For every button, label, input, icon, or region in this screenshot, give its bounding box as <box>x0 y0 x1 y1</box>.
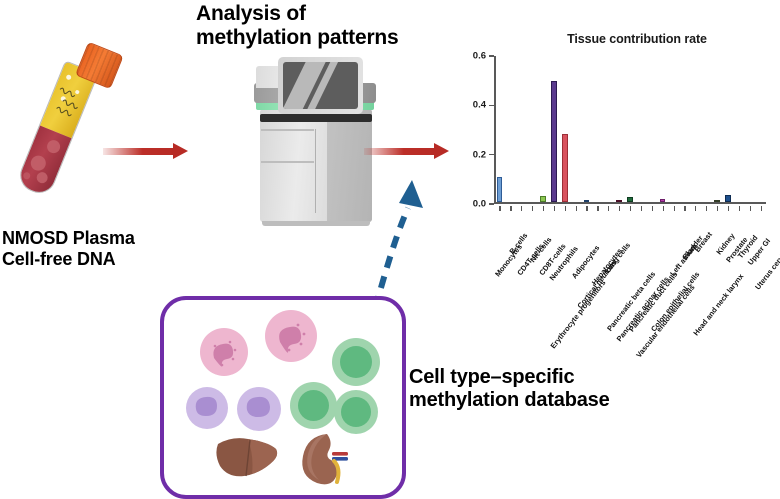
cell-generic-green <box>290 382 337 429</box>
x-axis-tick <box>641 206 642 211</box>
x-axis-tick <box>554 206 555 211</box>
y-axis-tick-label: 0.2 <box>473 149 486 160</box>
x-axis-tick <box>717 206 718 211</box>
y-axis-tick-label: 0.0 <box>473 199 486 210</box>
x-axis-tick <box>630 206 631 211</box>
x-axis-tick <box>674 206 675 211</box>
chart-bar <box>497 177 503 203</box>
chart-bar <box>540 196 546 202</box>
blue-dashed-arrow-up-icon <box>355 172 435 312</box>
x-axis-tick <box>608 206 609 211</box>
tissue-contribution-chart: Tissue contribution rate 0.00.20.40.6Mon… <box>452 28 778 298</box>
chart-plot-area: 0.00.20.40.6MonocytesB-cellsCD4T-cellsNK… <box>494 56 766 204</box>
x-axis-tick <box>706 206 707 211</box>
chart-bar <box>714 200 720 202</box>
cell-lymphocyte-purple <box>186 387 228 429</box>
x-axis-tick <box>532 206 533 211</box>
x-axis-tick <box>663 206 664 211</box>
analysis-title: Analysis of methylation patterns <box>196 2 466 50</box>
y-axis-tick <box>489 203 494 204</box>
tube-blood-layer <box>16 125 71 196</box>
y-axis-tick-label: 0.4 <box>473 100 486 111</box>
x-axis-tick-label: Head and neck larynx <box>692 272 746 337</box>
x-axis-tick <box>510 206 511 211</box>
cell-lymphocyte-purple <box>237 387 281 431</box>
chart-bar <box>725 195 731 202</box>
x-axis-tick <box>521 206 522 211</box>
y-axis-tick <box>489 105 494 106</box>
y-axis <box>494 56 496 204</box>
chart-bar <box>660 199 666 202</box>
x-axis-tick <box>543 206 544 211</box>
cell-granulocyte-pink <box>265 310 317 362</box>
x-axis-tick <box>739 206 740 211</box>
kidney-organ-icon <box>297 430 355 488</box>
cell-generic-green <box>334 390 378 434</box>
x-axis-tick <box>565 206 566 211</box>
y-axis-tick-label: 0.6 <box>473 51 486 62</box>
chart-bar <box>584 200 590 202</box>
red-arrow-right-icon <box>364 146 450 157</box>
tube-body <box>15 60 99 198</box>
figure-canvas: NMOSD Plasma Cell-free DNA Analysis of m… <box>0 0 780 498</box>
chart-bar <box>627 197 633 202</box>
x-axis-tick <box>728 206 729 211</box>
x-axis-tick <box>750 206 751 211</box>
database-caption: Cell type–specific methylation database <box>409 366 709 412</box>
x-axis-tick <box>499 206 500 211</box>
x-axis-tick <box>684 206 685 211</box>
chart-title: Tissue contribution rate <box>512 32 762 46</box>
x-axis <box>494 202 766 204</box>
x-axis-tick <box>619 206 620 211</box>
chart-bar <box>562 134 568 203</box>
x-axis-tick <box>597 206 598 211</box>
chart-bar <box>616 200 622 202</box>
x-axis-tick <box>576 206 577 211</box>
x-axis-tick <box>586 206 587 211</box>
y-axis-tick <box>489 55 494 56</box>
cell-type-database-panel <box>160 296 406 499</box>
blood-tube-icon <box>38 45 128 220</box>
red-arrow-right-icon <box>103 146 189 157</box>
y-axis-tick <box>489 154 494 155</box>
plasma-caption: NMOSD Plasma Cell-free DNA <box>2 228 222 269</box>
cell-generic-green <box>332 338 380 386</box>
chart-bar <box>551 81 557 202</box>
liver-organ-icon <box>214 436 280 482</box>
x-axis-tick <box>695 206 696 211</box>
x-axis-tick <box>652 206 653 211</box>
cell-granulocyte-pink <box>200 328 248 376</box>
x-axis-tick <box>761 206 762 211</box>
